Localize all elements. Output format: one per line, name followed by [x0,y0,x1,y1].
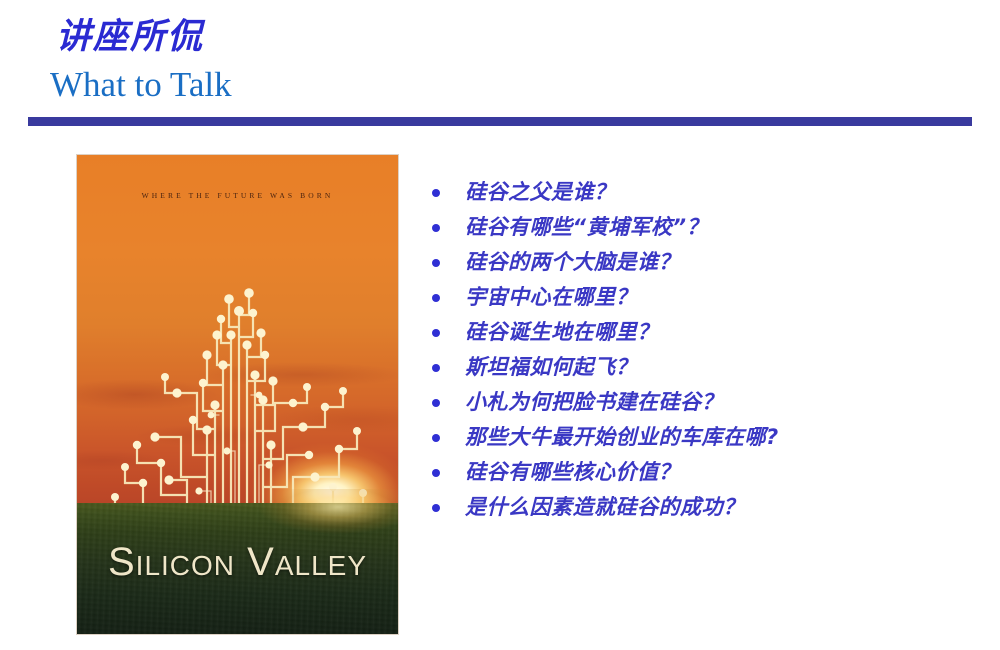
talk-topics-list: 硅谷之父是谁？ 硅谷有哪些“黄埔军校”？ 硅谷的两个大脑是谁？ 宇宙中心在哪里？… [428,175,968,525]
bullet-dot-icon [432,329,440,337]
bullet-dot-icon [432,224,440,232]
list-item-label: 硅谷之父是谁？ [465,182,616,203]
bullet-dot-icon [432,259,440,267]
list-item: 硅谷的两个大脑是谁？ [428,245,968,280]
list-item: 是什么因素造就硅谷的成功？ [428,490,968,525]
list-item: 宇宙中心在哪里？ [428,280,968,315]
list-item: 小札为何把脸书建在硅谷？ [428,385,968,420]
bullet-dot-icon [432,469,440,477]
list-item-label: 硅谷诞生地在哪里？ [465,322,659,343]
bullet-dot-icon [432,399,440,407]
list-item: 硅谷之父是谁？ [428,175,968,210]
poster-title: Silicon Valley [77,540,398,585]
page-title-english: What to Talk [50,66,232,105]
list-item-label: 是什么因素造就硅谷的成功？ [465,497,745,518]
list-item: 硅谷有哪些核心价值？ [428,455,968,490]
list-item: 那些大牛最开始创业的车库在哪? [428,420,968,455]
poster-tagline: WHERE THE FUTURE WAS BORN [77,191,398,200]
bullet-dot-icon [432,364,440,372]
list-item-label: 宇宙中心在哪里？ [465,287,637,308]
list-item-label: 硅谷的两个大脑是谁？ [465,252,680,273]
list-item-label: 小札为何把脸书建在硅谷？ [465,392,723,413]
list-item-label: 斯坦福如何起飞？ [465,357,637,378]
list-item-label: 硅谷有哪些“黄埔军校”？ [465,217,708,238]
bullet-dot-icon [432,189,440,197]
slide-header: 讲座所侃 What to Talk [0,0,1000,130]
header-divider [28,117,972,126]
bullet-dot-icon [432,434,440,442]
bullet-dot-icon [432,504,440,512]
list-item-label: 那些大牛最开始创业的车库在哪? [465,427,779,448]
list-item: 硅谷诞生地在哪里？ [428,315,968,350]
list-item-label: 硅谷有哪些核心价值？ [465,462,680,483]
list-item: 硅谷有哪些“黄埔军校”？ [428,210,968,245]
page-title-chinese: 讲座所侃 [56,18,204,57]
silicon-valley-poster-image: WHERE THE FUTURE WAS BORN [77,155,398,634]
bullet-dot-icon [432,294,440,302]
list-item: 斯坦福如何起飞？ [428,350,968,385]
